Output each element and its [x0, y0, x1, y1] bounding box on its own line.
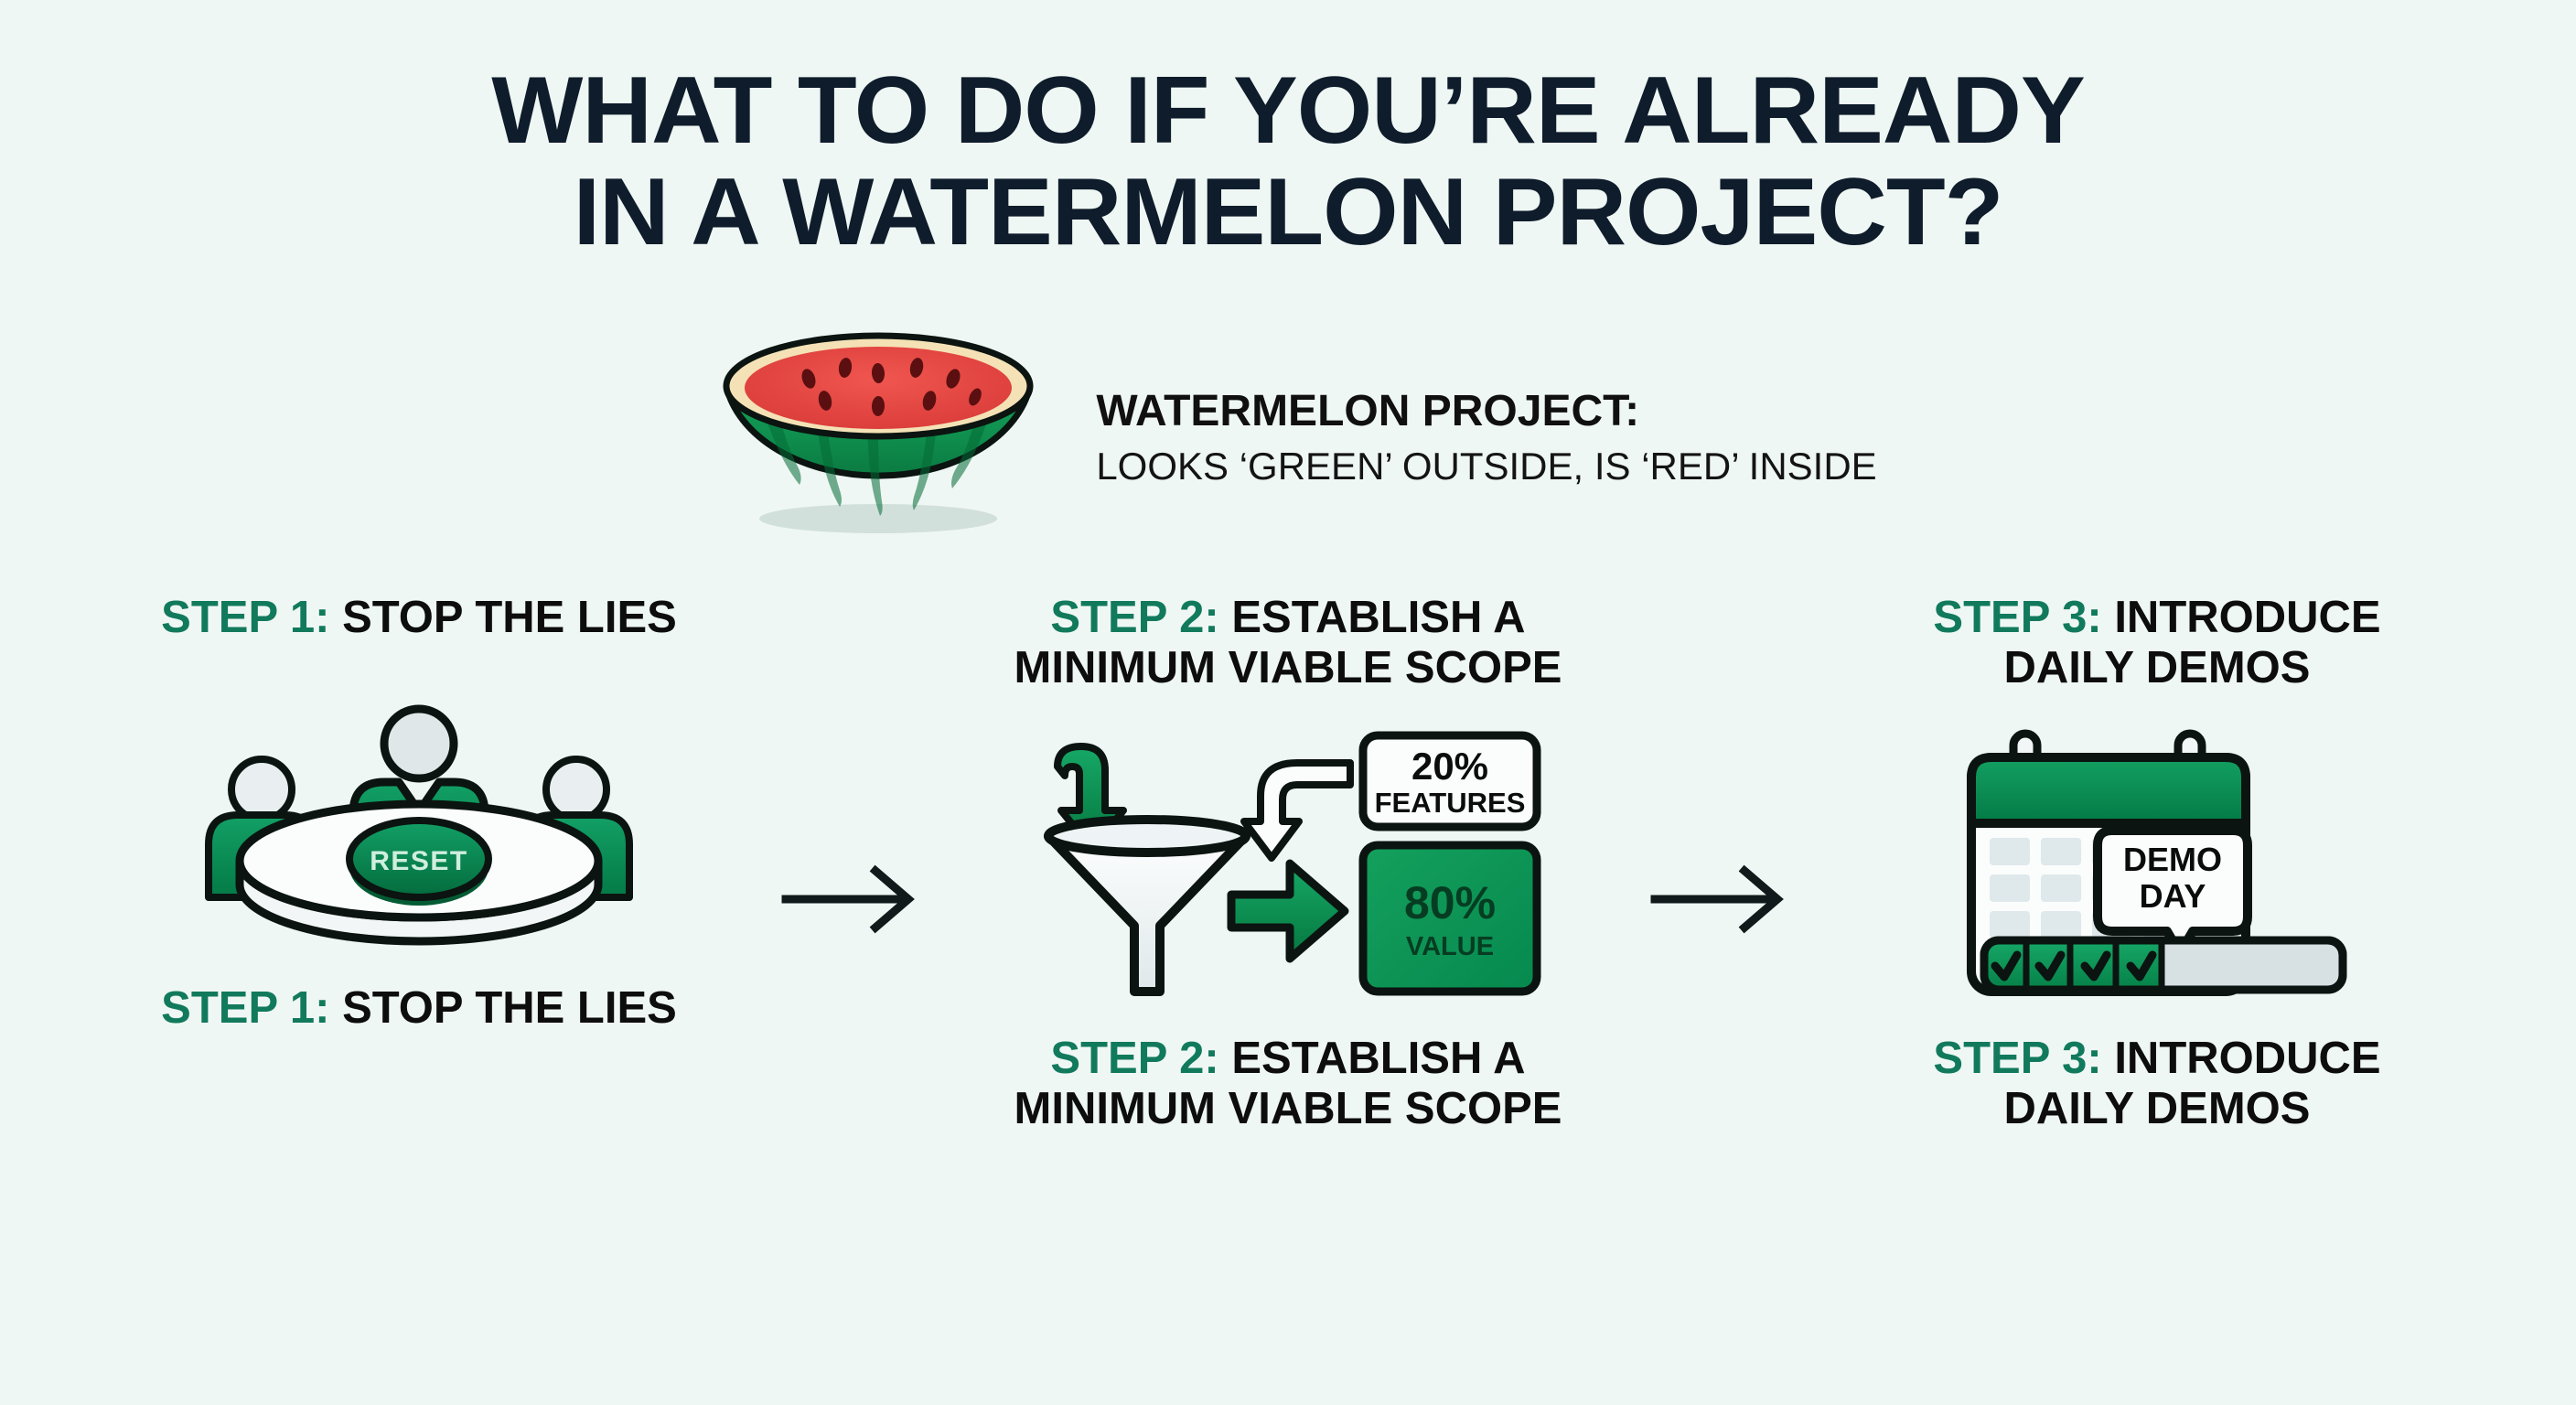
step-2-illustration: 20% FEATURES 80% VALUE [1023, 728, 1553, 1003]
definition-description: LOOKS ‘GREEN’ OUTSIDE, IS ‘RED’ INSIDE [1096, 444, 1876, 489]
funnel-filter-icon: 20% FEATURES 80% VALUE [1023, 728, 1553, 1003]
arrow-step2-to-step3 [1636, 707, 1809, 1091]
features-percent-label: 20% [1411, 745, 1488, 788]
inflow-arrow-white [1244, 763, 1350, 858]
page-title: WHAT TO DO IF YOU’RE ALREADY IN A WATERM… [0, 60, 2576, 264]
definition-row: WATERMELON PROJECT: LOOKS ‘GREEN’ OUTSID… [0, 322, 2576, 537]
step-2-heading-line2: MINIMUM VIABLE SCOPE [1014, 643, 1562, 693]
reset-button: RESET [349, 820, 488, 906]
step-3-heading: STEP 3: INTRODUCE DAILY DEMOS [1933, 593, 2380, 693]
step-2-caption-number: STEP 2: [1050, 1034, 1218, 1083]
step-3-illustration: DEMO DAY [1942, 728, 2372, 1003]
step-1-caption-number: STEP 1: [161, 983, 329, 1033]
step-column-3: STEP 3: INTRODUCE DAILY DEMOS [1809, 593, 2505, 1134]
slide-canvas: WHAT TO DO IF YOU’RE ALREADY IN A WATERM… [0, 0, 2576, 1405]
features-text-label: FEATURES [1375, 787, 1526, 819]
step-1-caption-line1: STOP THE LIES [342, 983, 677, 1033]
step-3-heading-line2: DAILY DEMOS [1933, 643, 2380, 693]
value-card: 80% VALUE [1363, 845, 1537, 992]
step-1-illustration: RESET [163, 678, 675, 952]
title-line-2: IN A WATERMELON PROJECT? [0, 162, 2576, 263]
value-text-label: VALUE [1406, 932, 1494, 961]
step-2-heading-line1: ESTABLISH A [1231, 593, 1525, 642]
step-2-caption-line2: MINIMUM VIABLE SCOPE [1014, 1084, 1562, 1134]
demo-day-line2: DAY [2140, 877, 2206, 915]
demo-day-bubble: DEMO DAY [2098, 831, 2248, 953]
value-percent-label: 80% [1404, 877, 1496, 928]
title-line-1: WHAT TO DO IF YOU’RE ALREADY [0, 60, 2576, 162]
definition-text: WATERMELON PROJECT: LOOKS ‘GREEN’ OUTSID… [1096, 370, 1876, 490]
step-2-caption-line1: ESTABLISH A [1231, 1034, 1525, 1083]
demo-day-line1: DEMO [2123, 841, 2222, 878]
step-3-caption-number: STEP 3: [1933, 1034, 2101, 1083]
step-2-caption: STEP 2: ESTABLISH A MINIMUM VIABLE SCOPE [1014, 1034, 1562, 1134]
step-1-heading: STEP 1: STOP THE LIES [161, 593, 677, 643]
step-1-caption: STEP 1: STOP THE LIES [161, 983, 677, 1034]
watermelon-half-icon [699, 322, 1056, 537]
reset-button-label: RESET [370, 846, 468, 876]
arrow-step1-to-step2 [767, 707, 940, 1091]
step-2-heading: STEP 2: ESTABLISH A MINIMUM VIABLE SCOPE [1014, 593, 1562, 693]
step-2-number: STEP 2: [1050, 593, 1218, 642]
step-3-caption-line1: INTRODUCE [2114, 1034, 2380, 1083]
step-column-2: STEP 2: ESTABLISH A MINIMUM VIABLE SCOPE [940, 593, 1636, 1134]
progress-bar [1984, 940, 2343, 990]
funnel-shape [1048, 836, 1246, 992]
step-1-number: STEP 1: [161, 593, 329, 642]
step-3-caption-line2: DAILY DEMOS [1933, 1084, 2380, 1134]
step-3-caption: STEP 3: INTRODUCE DAILY DEMOS [1933, 1034, 2380, 1134]
calendar-header [1971, 757, 2246, 823]
step-column-1: STEP 1: STOP THE LIES [71, 593, 767, 1034]
step-1-heading-line1: STOP THE LIES [342, 593, 677, 642]
step-3-number: STEP 3: [1933, 593, 2101, 642]
output-arrow [1231, 863, 1345, 959]
calendar-demo-day-icon: DEMO DAY [1942, 728, 2372, 1003]
steps-row: STEP 1: STOP THE LIES [0, 593, 2576, 1134]
step-3-heading-line1: INTRODUCE [2114, 593, 2380, 642]
definition-term: WATERMELON PROJECT: [1096, 386, 1876, 436]
meeting-reset-button-icon: RESET [163, 678, 675, 952]
features-card: 20% FEATURES [1363, 735, 1537, 827]
